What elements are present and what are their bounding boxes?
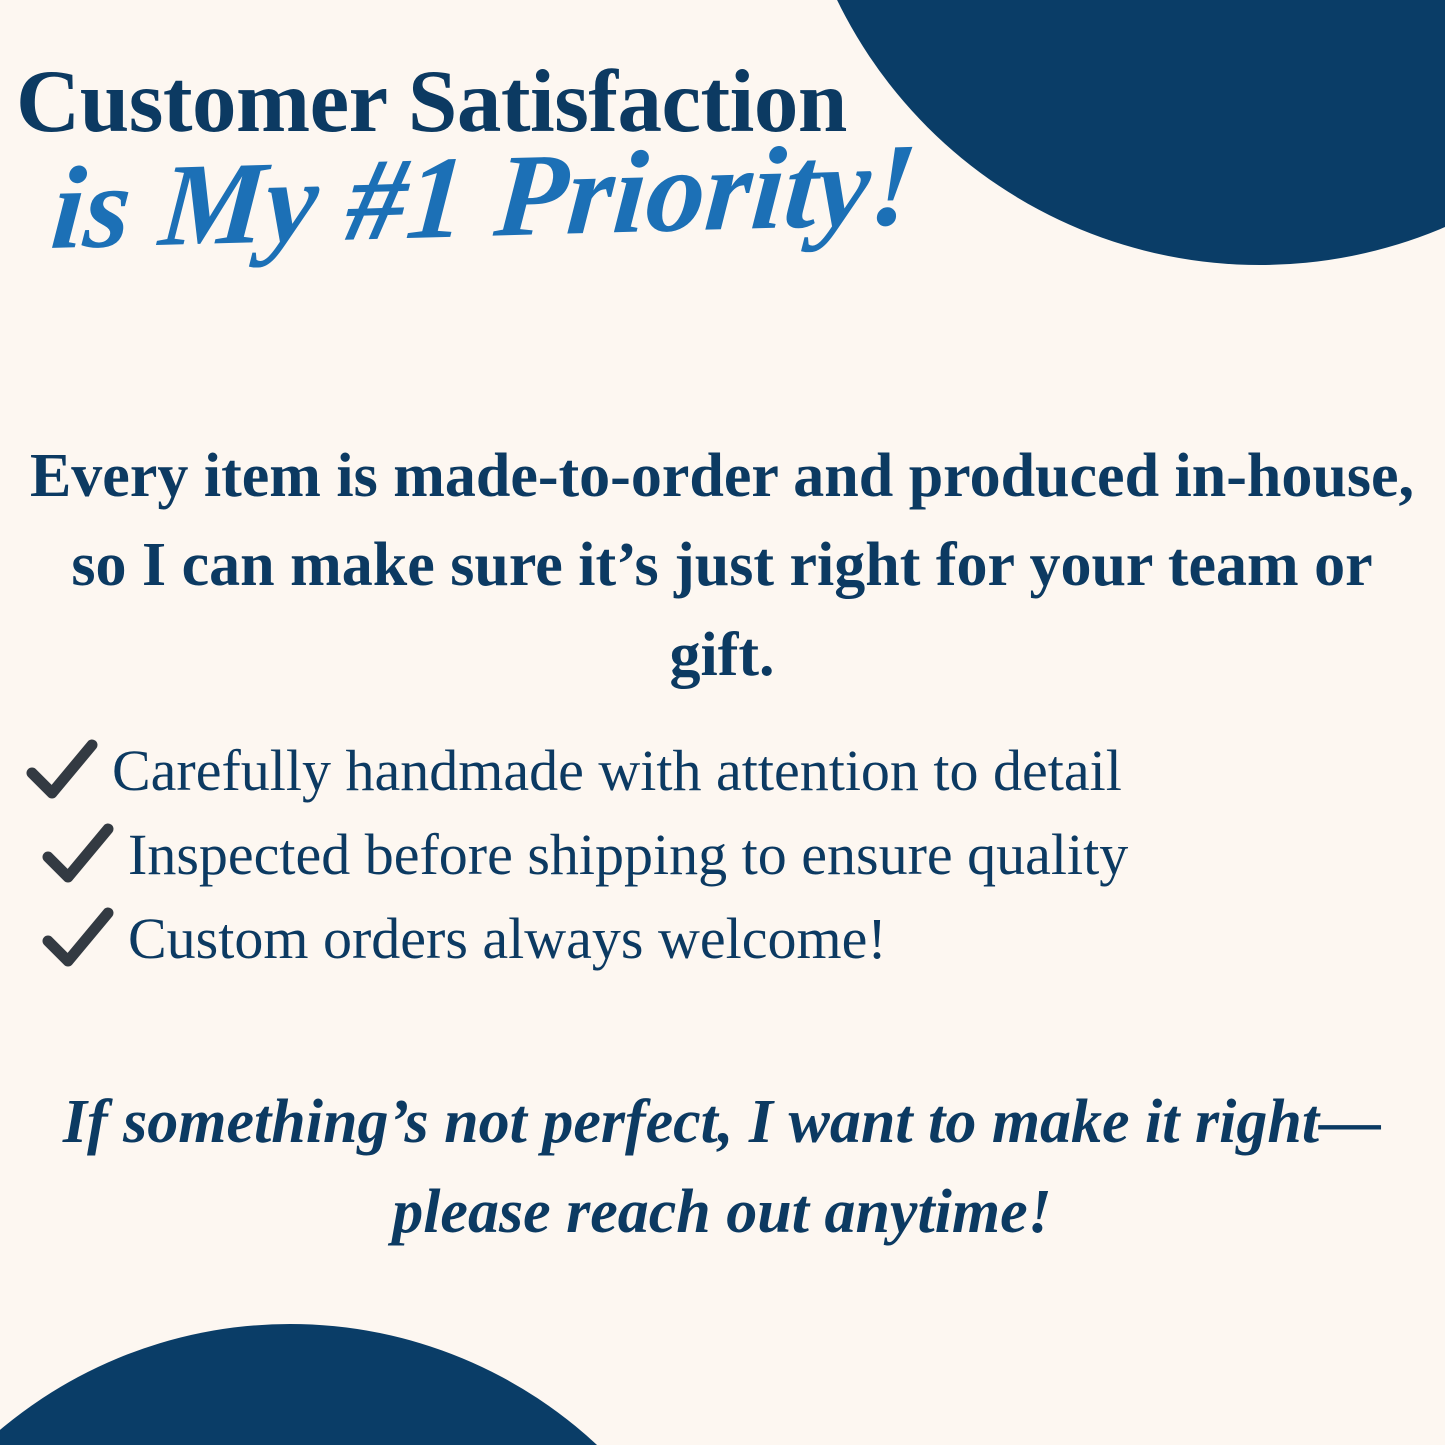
checkmark-icon <box>42 903 114 975</box>
lead-paragraph: Every item is made-to-order and produced… <box>22 432 1422 700</box>
list-item-label: Carefully handmade with attention to det… <box>112 741 1122 802</box>
script-subtitle: is My #1 Priority! <box>47 126 920 268</box>
list-item: Carefully handmade with attention to det… <box>0 735 1445 807</box>
bottom-left-circle-decoration <box>0 1324 740 1445</box>
checkmark-icon <box>26 735 98 807</box>
promo-graphic: Customer Satisfaction is My #1 Priority!… <box>0 0 1445 1445</box>
check-list: Carefully handmade with attention to det… <box>0 735 1445 987</box>
closing-statement: If something’s not perfect, I want to ma… <box>22 1078 1422 1258</box>
checkmark-icon <box>42 819 114 891</box>
list-item: Inspected before shipping to ensure qual… <box>0 819 1445 891</box>
list-item: Custom orders always welcome! <box>0 903 1445 975</box>
list-item-label: Custom orders always welcome! <box>128 909 887 970</box>
list-item-label: Inspected before shipping to ensure qual… <box>128 825 1128 886</box>
